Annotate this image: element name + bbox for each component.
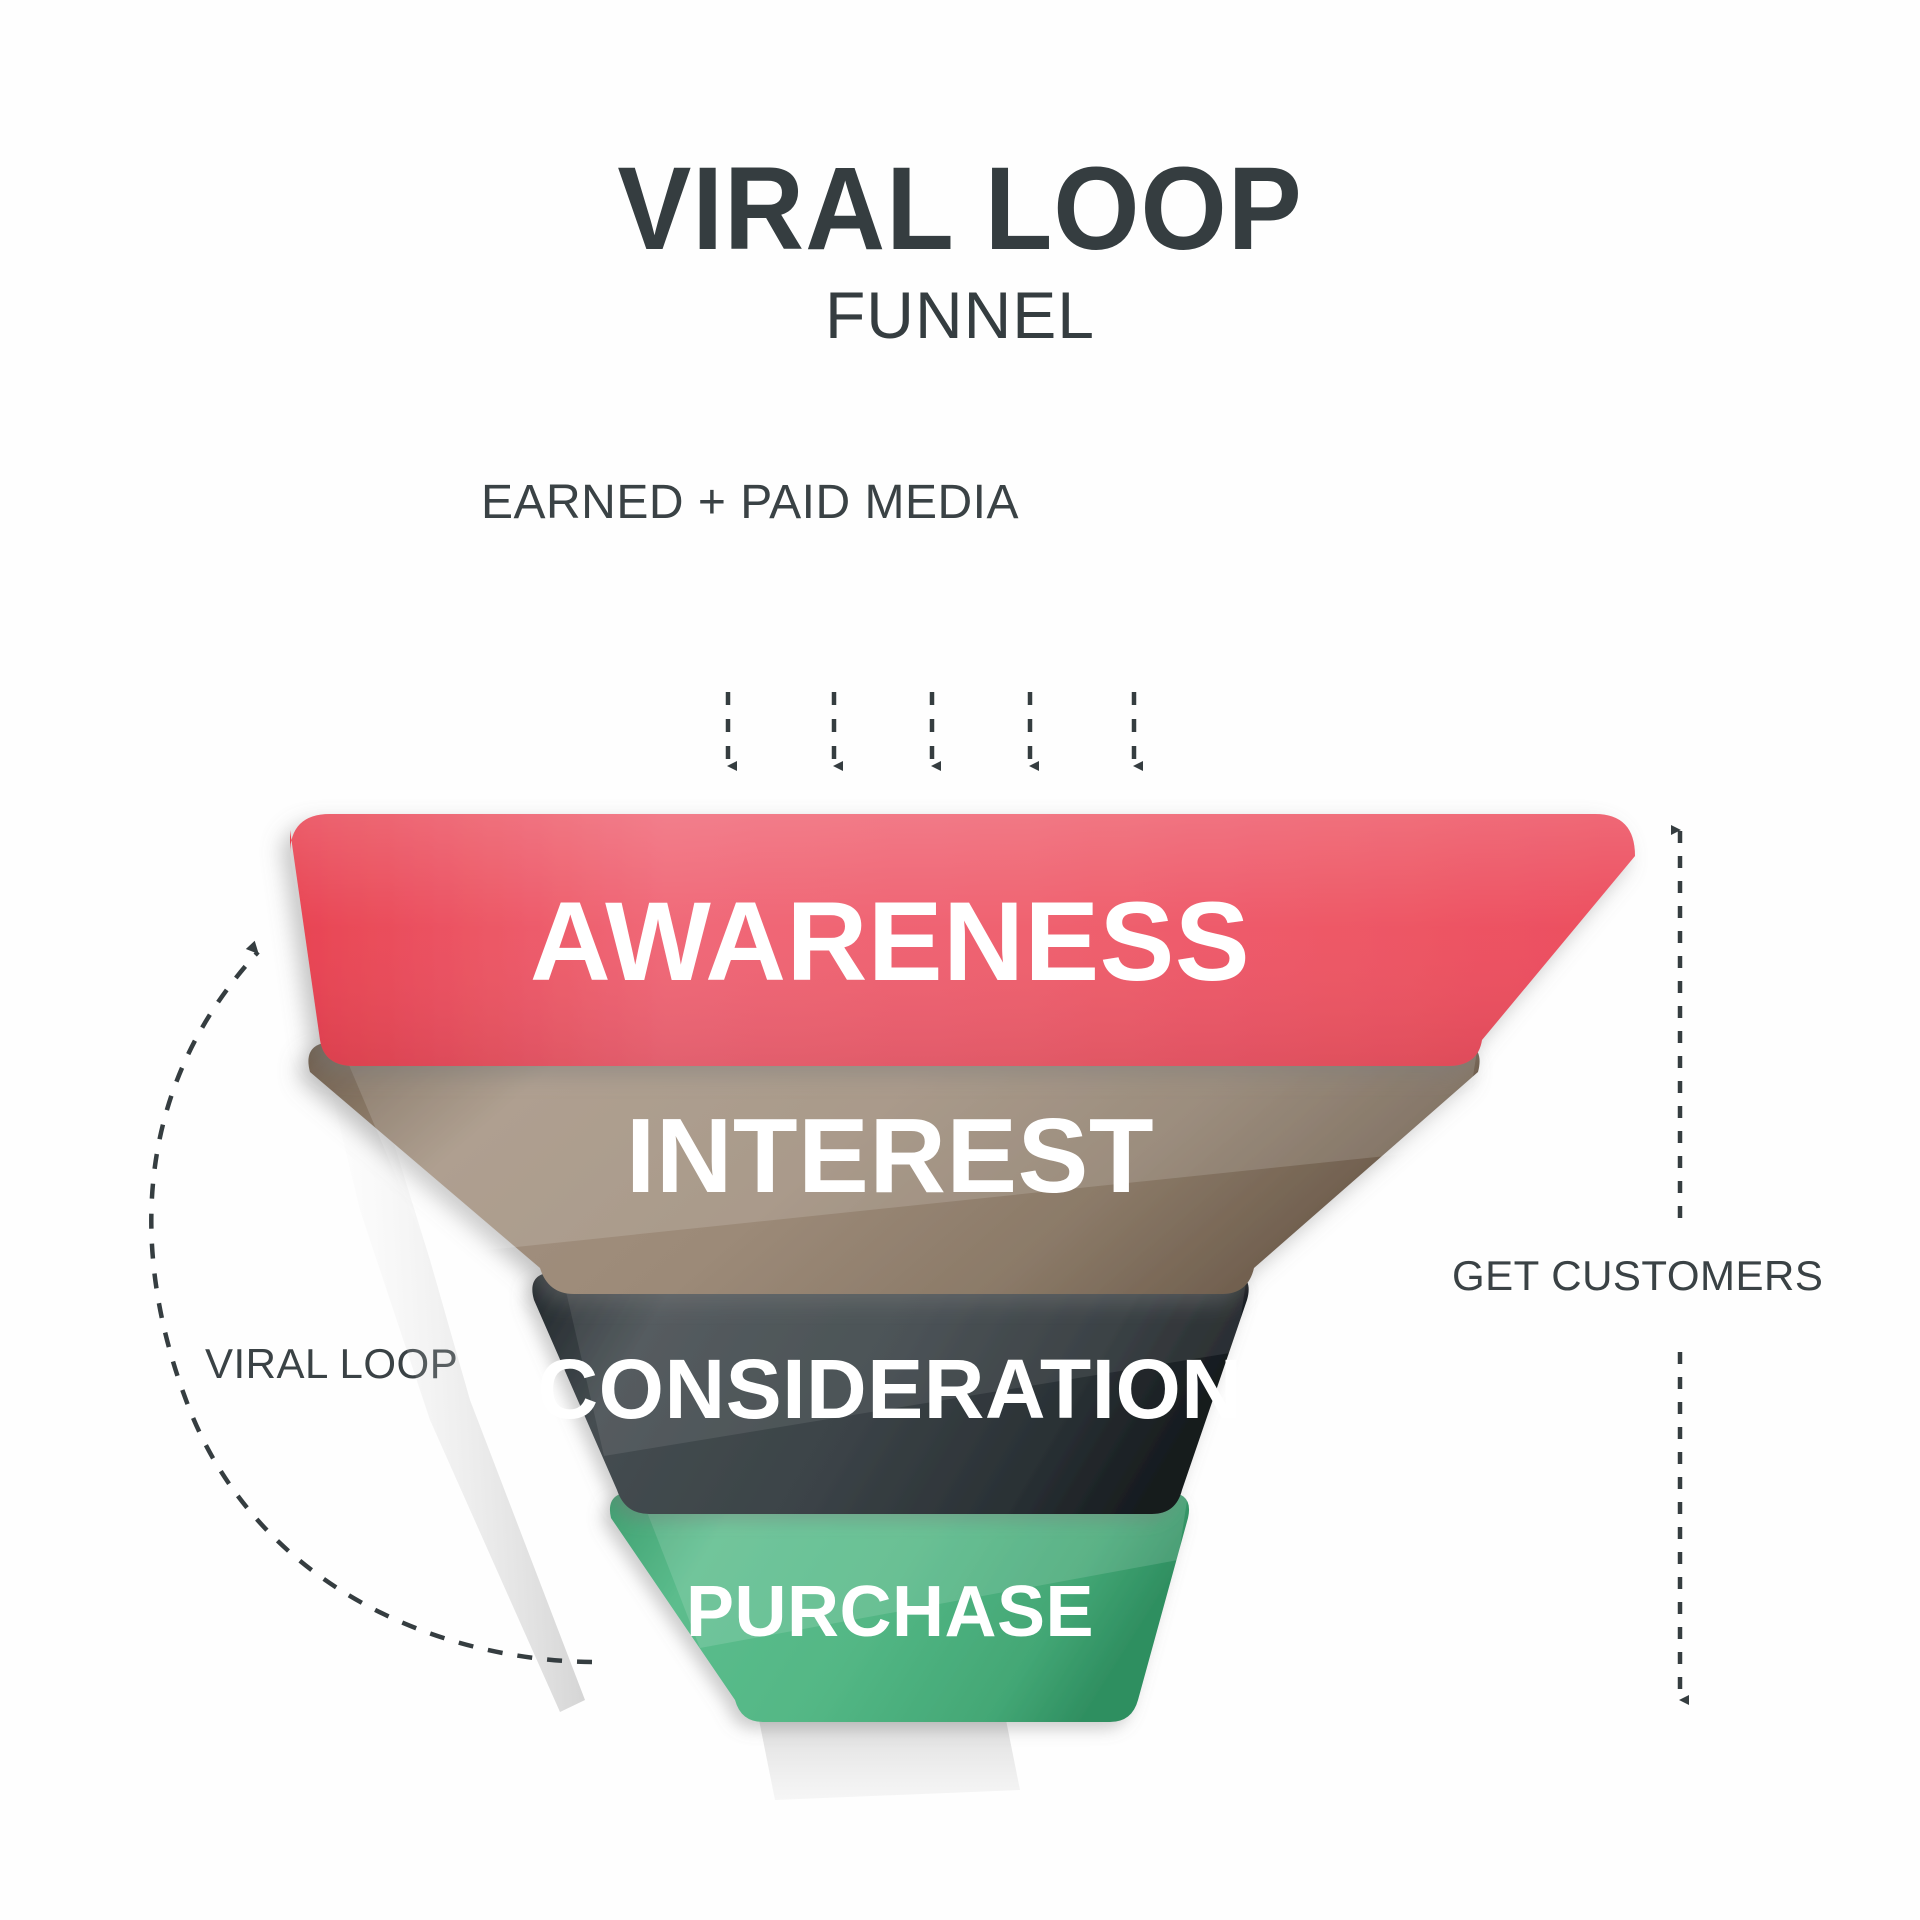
title-block: VIRAL LOOP FUNNEL — [0, 150, 1920, 348]
funnel-left-shadow — [275, 830, 585, 1712]
funnel-stage-label-interest: INTEREST — [626, 1097, 1154, 1215]
funnel-tail-shadow — [753, 1690, 1020, 1800]
funnel-stage-awareness[interactable]: AWARENESS — [290, 814, 1635, 1066]
earned-paid-media-label: EARNED + PAID MEDIA — [0, 475, 1500, 530]
funnel-stage-purchase[interactable]: PURCHASE — [610, 1440, 1189, 1722]
viral-loop-arrow — [151, 952, 592, 1662]
infographic-canvas: VIRAL LOOP FUNNEL EARNED + PAID MEDIA VI… — [0, 0, 1920, 1920]
funnel-stage-label-purchase: PURCHASE — [686, 1572, 1094, 1652]
funnel-stage-interest[interactable]: INTEREST — [308, 1042, 1479, 1294]
funnel-stage-consideration[interactable]: CONSIDERATION — [532, 1272, 1248, 1514]
page-title: VIRAL LOOP — [58, 150, 1863, 268]
funnel-stage-label-consideration: CONSIDERATION — [538, 1342, 1243, 1436]
viral-loop-label: VIRAL LOOP — [205, 1340, 458, 1388]
input-arrows-group — [728, 692, 1134, 766]
funnel-stage-label-awareness: AWARENESS — [530, 879, 1250, 1004]
page-subtitle: FUNNEL — [0, 282, 1920, 348]
get-customers-label: GET CUSTOMERS — [1452, 1252, 1823, 1300]
